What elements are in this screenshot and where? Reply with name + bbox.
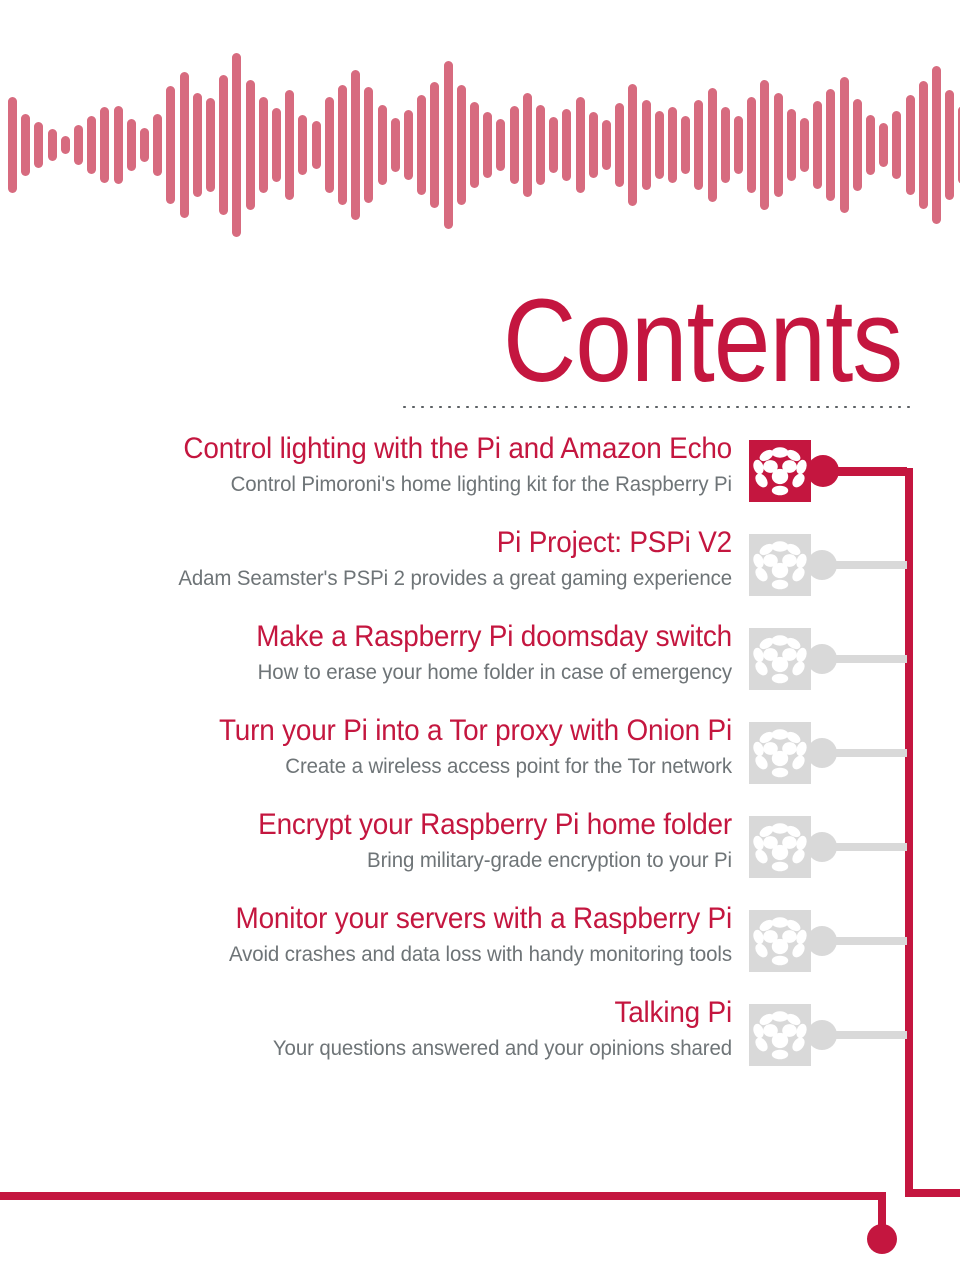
toc-lead-line: [833, 749, 907, 757]
waveform-bar: [272, 108, 281, 182]
title-dotted-rule: [400, 404, 915, 410]
waveform-bar: [510, 106, 519, 184]
toc-entry-title[interactable]: Pi Project: PSPi V2: [100, 524, 732, 562]
waveform-bar: [74, 125, 83, 165]
toc-entry[interactable]: Pi Project: PSPi V2Adam Seamster's PSPi …: [0, 524, 960, 618]
toc-node-dot-icon: [807, 644, 837, 674]
audio-waveform-decoration: [0, 0, 960, 260]
waveform-bar: [668, 107, 677, 183]
waveform-bar: [8, 97, 17, 193]
waveform-bar: [127, 119, 136, 171]
waveform-bar: [417, 95, 426, 195]
waveform-bar: [48, 129, 57, 161]
waveform-bar: [285, 90, 294, 200]
waveform-bar: [549, 117, 558, 173]
waveform-bar: [602, 120, 611, 170]
toc-lead-line: [833, 1031, 907, 1039]
waveform-bar: [338, 85, 347, 205]
waveform-bar: [906, 95, 915, 195]
toc-entry-subtitle: Adam Seamster's PSPi 2 provides a great …: [86, 563, 732, 593]
waveform-bar: [21, 114, 30, 176]
toc-lead-line: [833, 467, 907, 475]
waveform-bar: [589, 112, 598, 178]
toc-lead-line: [833, 843, 907, 851]
toc-entry-marker: [749, 816, 960, 878]
toc-entry[interactable]: Talking PiYour questions answered and yo…: [0, 994, 960, 1088]
raspberry-pi-icon[interactable]: [749, 1004, 811, 1066]
waveform-bar: [232, 53, 241, 237]
toc-entry-marker: [749, 1004, 960, 1066]
waveform-bar: [34, 122, 43, 168]
page-title: Contents: [503, 282, 902, 400]
waveform-bar: [404, 110, 413, 180]
waveform-bar: [193, 93, 202, 197]
waveform-bar: [734, 116, 743, 174]
waveform-bar: [298, 115, 307, 175]
toc-entry-text: Monitor your servers with a Raspberry Pi…: [52, 900, 732, 969]
toc-entry-title[interactable]: Monitor your servers with a Raspberry Pi: [100, 900, 732, 938]
toc-entry-marker: [749, 722, 960, 784]
waveform-bar: [774, 93, 783, 197]
toc-lead-line: [833, 937, 907, 945]
waveform-bar: [166, 86, 175, 204]
waveform-bar: [114, 106, 123, 184]
waveform-bar: [259, 97, 268, 193]
waveform-bar: [879, 123, 888, 167]
waveform-bar: [153, 114, 162, 176]
waveform-bar: [325, 97, 334, 193]
magazine-contents-page: Contents Control lighting with the Pi an…: [0, 0, 960, 1280]
waveform-bar: [140, 128, 149, 162]
toc-entry-text: Make a Raspberry Pi doomsday switchHow t…: [52, 618, 732, 687]
waveform-bar: [470, 102, 479, 188]
toc-entry-text: Talking PiYour questions answered and yo…: [52, 994, 732, 1063]
toc-lead-line: [833, 561, 907, 569]
waveform-bar: [523, 93, 532, 197]
waveform-bar: [708, 88, 717, 202]
waveform-bar: [787, 109, 796, 181]
waveform-bar: [932, 66, 941, 224]
waveform-bar: [655, 111, 664, 179]
toc-entry[interactable]: Make a Raspberry Pi doomsday switchHow t…: [0, 618, 960, 712]
waveform-bar: [853, 99, 862, 191]
toc-entry-marker: [749, 910, 960, 972]
toc-lead-line: [833, 655, 907, 663]
waveform-bar: [457, 85, 466, 205]
toc-entry-title[interactable]: Turn your Pi into a Tor proxy with Onion…: [100, 712, 732, 750]
waveform-bar: [721, 107, 730, 183]
waveform-bar: [892, 111, 901, 179]
waveform-bar: [312, 121, 321, 169]
raspberry-pi-icon[interactable]: [749, 534, 811, 596]
toc-node-dot-icon: [807, 1020, 837, 1050]
waveform-bar: [180, 72, 189, 218]
toc-entry-subtitle: Avoid crashes and data loss with handy m…: [86, 939, 732, 969]
toc-entry[interactable]: Turn your Pi into a Tor proxy with Onion…: [0, 712, 960, 806]
toc-entry-subtitle: Bring military-grade encryption to your …: [86, 845, 732, 875]
toc-entry-title[interactable]: Control lighting with the Pi and Amazon …: [100, 430, 732, 468]
toc-entry-marker: [749, 628, 960, 690]
toc-node-dot-icon: [807, 832, 837, 862]
waveform-bar: [615, 103, 624, 187]
waveform-bar: [378, 105, 387, 185]
toc-entry-subtitle: Create a wireless access point for the T…: [86, 751, 732, 781]
toc-entry[interactable]: Control lighting with the Pi and Amazon …: [0, 430, 960, 524]
toc-entry-title[interactable]: Talking Pi: [100, 994, 732, 1032]
waveform-bar: [813, 101, 822, 189]
toc-entry-subtitle: Control Pimoroni's home lighting kit for…: [86, 469, 732, 499]
waveform-bar: [826, 89, 835, 201]
waveform-bar: [351, 70, 360, 220]
waveform-bar: [642, 100, 651, 190]
waveform-bar: [430, 82, 439, 208]
waveform-bar: [496, 119, 505, 171]
waveform-bar: [681, 116, 690, 174]
waveform-bar: [206, 98, 215, 192]
waveform-bar: [945, 90, 954, 200]
raspberry-pi-icon[interactable]: [749, 910, 811, 972]
waveform-bar: [576, 97, 585, 193]
toc-node-dot-icon: [807, 738, 837, 768]
toc-entry-text: Control lighting with the Pi and Amazon …: [52, 430, 732, 499]
waveform-bar: [444, 61, 453, 229]
toc-entry-marker: [749, 440, 960, 502]
waveform-bar: [364, 87, 373, 203]
toc-entry-subtitle: Your questions answered and your opinion…: [86, 1033, 732, 1063]
toc-entry-text: Pi Project: PSPi V2Adam Seamster's PSPi …: [52, 524, 732, 593]
toc-node-dot-icon: [807, 926, 837, 956]
page-title-block: Contents: [0, 288, 960, 418]
table-of-contents: Control lighting with the Pi and Amazon …: [0, 430, 960, 1110]
waveform-bar: [536, 105, 545, 185]
waveform-bar: [760, 80, 769, 210]
waveform-bar: [391, 118, 400, 172]
toc-entry-marker: [749, 534, 960, 596]
waveform-bar: [61, 136, 70, 154]
toc-node-dot-icon: [807, 550, 837, 580]
waveform-bar: [562, 109, 571, 181]
raspberry-pi-icon[interactable]: [749, 722, 811, 784]
waveform-bar: [866, 115, 875, 175]
waveform-bar: [747, 97, 756, 193]
waveform-bar: [219, 75, 228, 215]
raspberry-pi-icon[interactable]: [749, 440, 811, 502]
raspberry-pi-icon[interactable]: [749, 816, 811, 878]
waveform-bar: [628, 84, 637, 206]
waveform-bar: [919, 81, 928, 209]
toc-entry-subtitle: How to erase your home folder in case of…: [86, 657, 732, 687]
toc-entry[interactable]: Encrypt your Raspberry Pi home folderBri…: [0, 806, 960, 900]
toc-entry[interactable]: Monitor your servers with a Raspberry Pi…: [0, 900, 960, 994]
toc-entry-text: Encrypt your Raspberry Pi home folderBri…: [52, 806, 732, 875]
waveform-bar: [800, 118, 809, 172]
waveform-bar: [100, 107, 109, 183]
circuit-end-node: [867, 1224, 897, 1254]
toc-entry-title[interactable]: Make a Raspberry Pi doomsday switch: [100, 618, 732, 656]
toc-entry-title[interactable]: Encrypt your Raspberry Pi home folder: [100, 806, 732, 844]
raspberry-pi-icon[interactable]: [749, 628, 811, 690]
toc-entry-text: Turn your Pi into a Tor proxy with Onion…: [52, 712, 732, 781]
waveform-bar: [87, 116, 96, 174]
waveform-bar: [483, 112, 492, 178]
toc-node-dot-icon: [807, 455, 839, 487]
waveform-bar: [840, 77, 849, 213]
waveform-bar: [694, 100, 703, 190]
waveform-bar: [246, 80, 255, 210]
